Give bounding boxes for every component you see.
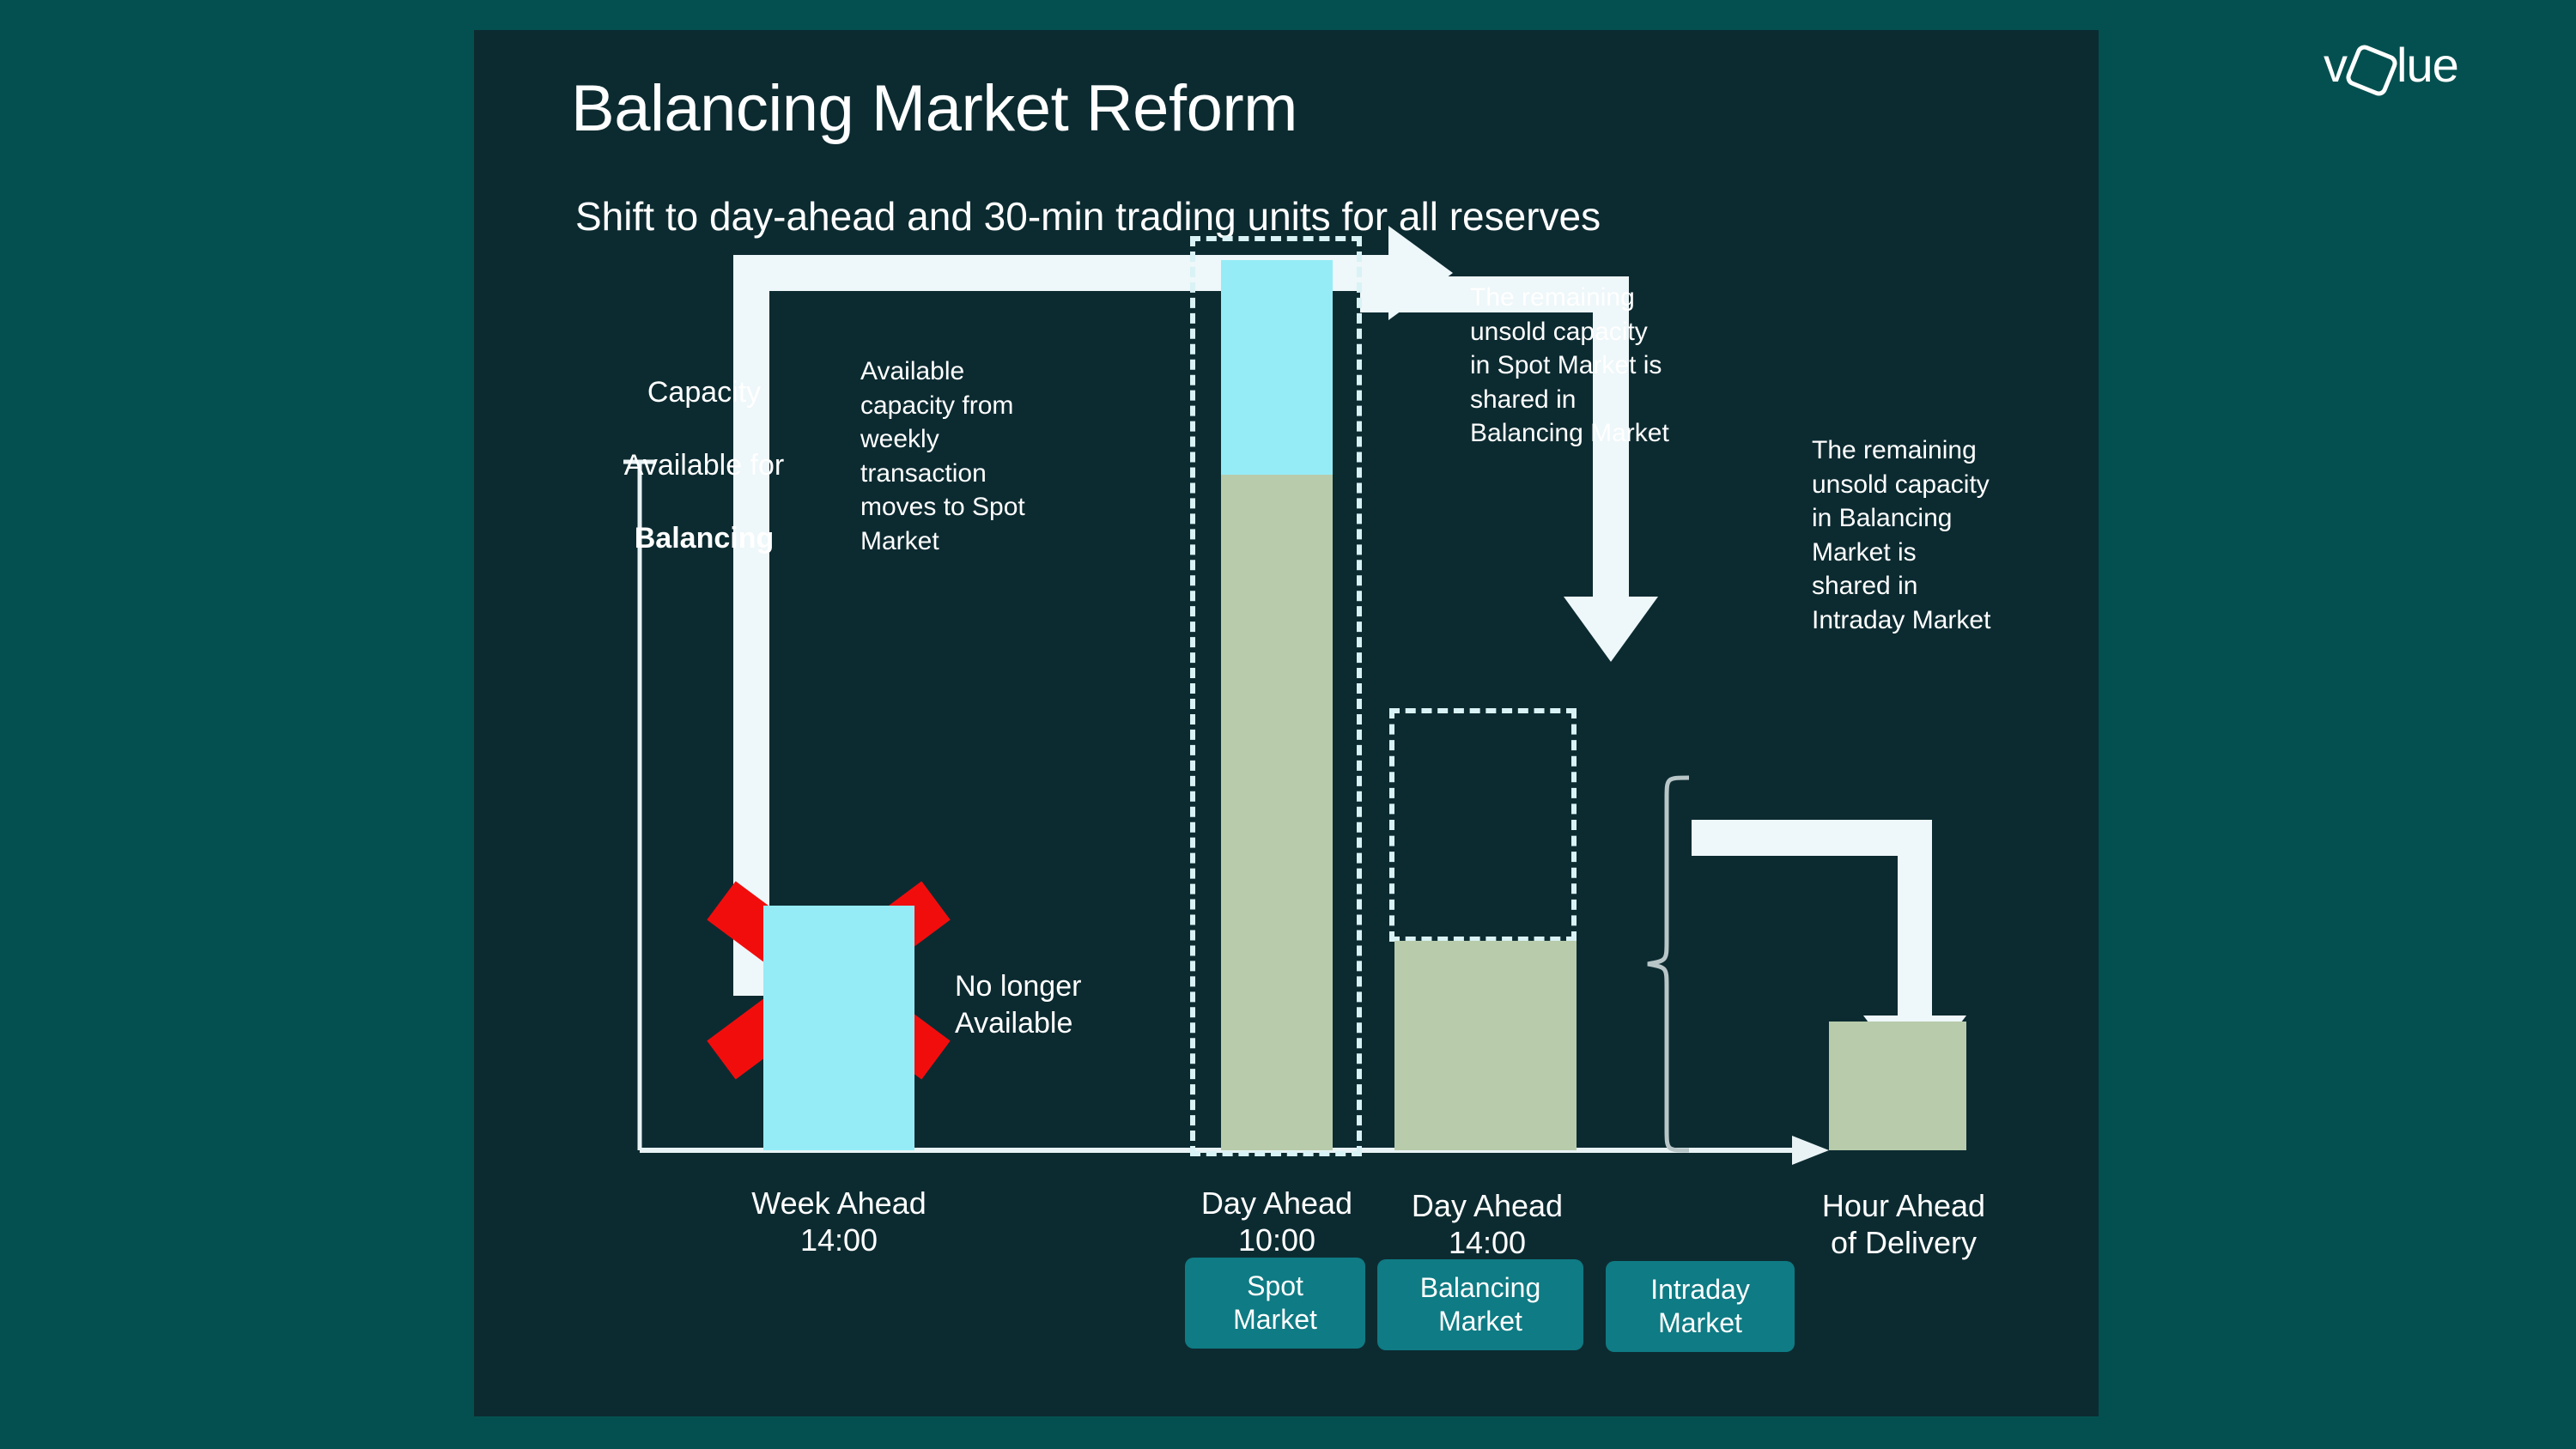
balancing-market-dashed-box <box>1389 708 1577 942</box>
logo-octagon-icon <box>2343 42 2399 98</box>
no-longer-available-label: No longer Available <box>955 968 1081 1041</box>
bar-week-ahead-cyan <box>763 906 914 1150</box>
balancing-market-chart: Capacity Available for Balancing No long… <box>474 30 2099 1416</box>
badge-balancing-market[interactable]: Balancing Market <box>1377 1259 1583 1350</box>
bar-day-ahead-14-sage <box>1394 941 1577 1150</box>
annotation-balancing-to-intraday: The remaining unsold capacity in Balanci… <box>1812 433 2095 638</box>
badge-intraday-market[interactable]: Intraday Market <box>1606 1261 1795 1352</box>
tick-label-hour-ahead: Hour Ahead of Delivery <box>1779 1187 2028 1261</box>
bar-day-ahead-10-cyan <box>1221 260 1333 475</box>
tick-label-week-ahead: Week Ahead 14:00 <box>719 1185 959 1258</box>
volue-logo: vlue <box>2324 41 2458 89</box>
annotation-weekly-to-spot: Available capacity from weekly transacti… <box>860 355 1092 559</box>
badge-spot-market[interactable]: Spot Market <box>1185 1258 1365 1349</box>
tick-label-day-ahead-14: Day Ahead 14:00 <box>1367 1187 1607 1261</box>
bar-hour-ahead-sage <box>1829 1022 1966 1150</box>
y-axis-label-line3: Balancing <box>584 520 824 557</box>
logo-lue-letters: lue <box>2397 41 2458 89</box>
annotation-spot-to-balancing: The remaining unsold capacity in Spot Ma… <box>1470 281 1745 451</box>
y-axis-label-line1: Capacity <box>584 374 824 411</box>
y-axis-label-line2: Available for <box>584 447 824 484</box>
logo-v-letter: v <box>2324 41 2347 89</box>
bar-day-ahead-10-sage <box>1221 475 1333 1150</box>
slide-panel: Balancing Market Reform Shift to day-ahe… <box>474 30 2099 1416</box>
capacity-brace <box>1648 778 1689 1150</box>
y-axis-label: Capacity Available for Balancing <box>584 337 824 593</box>
tick-label-day-ahead-10: Day Ahead 10:00 <box>1157 1185 1397 1258</box>
